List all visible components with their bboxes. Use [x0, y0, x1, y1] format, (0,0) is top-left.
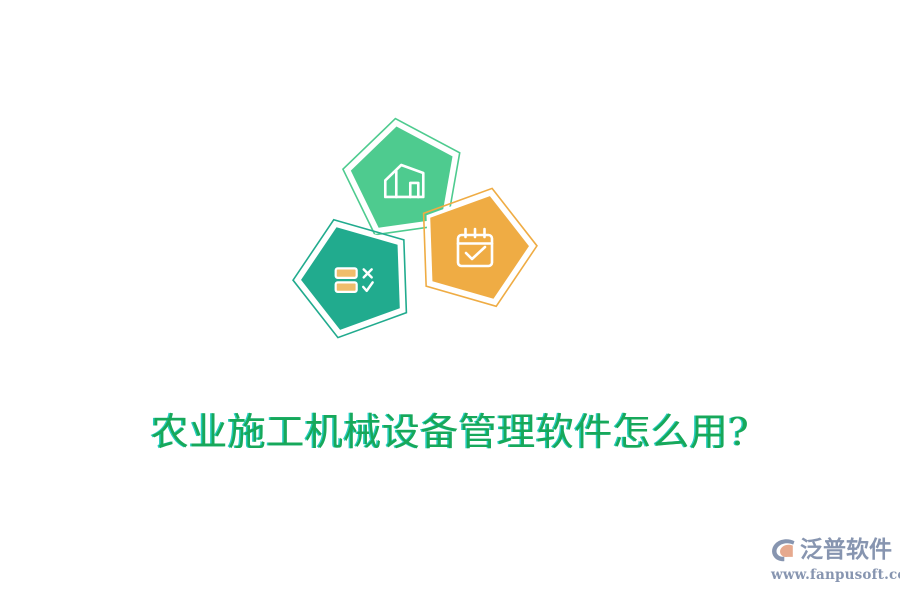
brand-wordmark: 泛普软件 [800, 536, 892, 564]
brand-watermark: 泛普软件 www.fanpusoft.com [770, 534, 894, 586]
checklist-bar-bottom [336, 282, 357, 292]
page-canvas: 农业施工机械设备管理软件怎么用? 泛普软件 www.fanpusoft.com [0, 0, 900, 600]
brand-url: www.fanpusoft.com [771, 567, 900, 584]
pentagon-cluster-illustration [285, 108, 545, 358]
logo-row: 泛普软件 [770, 534, 892, 566]
page-title: 农业施工机械设备管理软件怎么用? [0, 406, 900, 458]
fanpu-logo-icon [770, 536, 798, 564]
checklist-bar-top [336, 268, 357, 278]
